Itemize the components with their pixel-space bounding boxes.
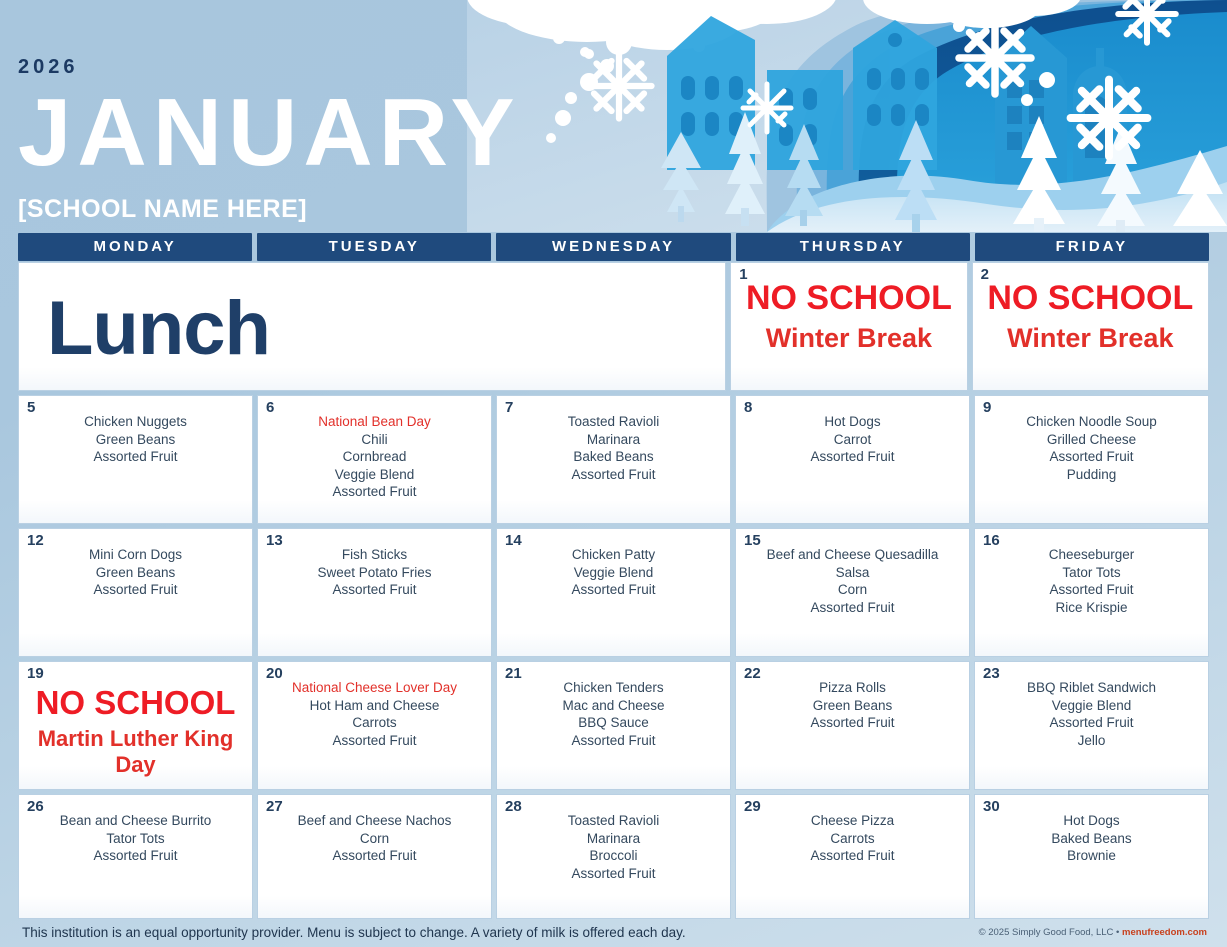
day-number: 23 [983, 665, 1000, 682]
meal-type-label: Lunch [19, 263, 725, 372]
menu-item: Assorted Fruit [505, 466, 722, 484]
menu-item: Beef and Cheese Nachos [266, 812, 483, 830]
menu-item: Rice Krispie [983, 599, 1200, 617]
day-number: 30 [983, 798, 1000, 815]
footer-separator: • [1116, 927, 1119, 938]
menu-item-list: Chicken NuggetsGreen BeansAssorted Fruit [19, 396, 252, 466]
menu-item: Assorted Fruit [266, 732, 483, 750]
weekday-header-wednesday: WEDNESDAY [496, 233, 730, 261]
no-school-title: NO SCHOOL [731, 279, 966, 318]
calendar-day-cell[interactable]: 20National Cheese Lover DayHot Ham and C… [257, 661, 492, 790]
menu-item: Hot Ham and Cheese [266, 697, 483, 715]
day-number: 1 [739, 266, 747, 283]
menu-item-list: Toasted RavioliMarinaraBaked BeansAssort… [497, 396, 730, 483]
menu-item: Chicken Tenders [505, 679, 722, 697]
menu-item: Green Beans [744, 697, 961, 715]
menu-item: BBQ Sauce [505, 714, 722, 732]
menu-item: Fish Sticks [266, 546, 483, 564]
menu-item: Assorted Fruit [744, 847, 961, 865]
calendar-day-cell[interactable]: 22Pizza RollsGreen BeansAssorted Fruit [735, 661, 970, 790]
menu-item: Brownie [983, 847, 1200, 865]
menu-item: Baked Beans [505, 448, 722, 466]
menu-item-list: Pizza RollsGreen BeansAssorted Fruit [736, 662, 969, 732]
menu-item: Assorted Fruit [505, 865, 722, 883]
menu-item: Assorted Fruit [266, 847, 483, 865]
menu-item: Assorted Fruit [983, 581, 1200, 599]
calendar-day-cell[interactable]: 8Hot DogsCarrotAssorted Fruit [735, 395, 970, 524]
footer-disclaimer: This institution is an equal opportunity… [22, 925, 686, 940]
menu-item: Assorted Fruit [744, 599, 961, 617]
menu-item: Jello [983, 732, 1200, 750]
no-school-notice: NO SCHOOLWinter Break [731, 263, 966, 354]
menu-item: Chicken Nuggets [27, 413, 244, 431]
weekday-header-row: MONDAYTUESDAYWEDNESDAYTHURSDAYFRIDAY [18, 233, 1209, 261]
weekday-header-tuesday: TUESDAY [257, 233, 491, 261]
calendar-header: 2026 JANUARY [SCHOOL NAME HERE] [0, 0, 1227, 232]
menu-item: Assorted Fruit [744, 714, 961, 732]
menu-item-list: CheeseburgerTator TotsAssorted FruitRice… [975, 529, 1208, 616]
menu-item: Salsa [744, 564, 961, 582]
calendar-grid: Lunch1NO SCHOOLWinter Break2NO SCHOOLWin… [18, 262, 1209, 919]
menu-item: Corn [744, 581, 961, 599]
no-school-reason: Winter Break [731, 322, 966, 354]
menufreedom-link[interactable]: menufreedom.com [1122, 927, 1207, 938]
menu-item: Hot Dogs [744, 413, 961, 431]
day-number: 22 [744, 665, 761, 682]
menu-item: Cornbread [266, 448, 483, 466]
day-number: 6 [266, 399, 274, 416]
calendar-day-cell[interactable]: 27Beef and Cheese NachosCornAssorted Fru… [257, 794, 492, 919]
weekday-header-friday: FRIDAY [975, 233, 1209, 261]
footer-copyright: © 2025 Simply Good Food, LLC [979, 927, 1114, 938]
calendar-day-cell[interactable]: 6National Bean DayChiliCornbreadVeggie B… [257, 395, 492, 524]
menu-item-list: Hot DogsBaked BeansBrownie [975, 795, 1208, 865]
menu-item-list: Toasted RavioliMarinaraBroccoliAssorted … [497, 795, 730, 882]
menu-item: Sweet Potato Fries [266, 564, 483, 582]
menu-item: Assorted Fruit [983, 448, 1200, 466]
menu-item: Corn [266, 830, 483, 848]
menu-item: Marinara [505, 830, 722, 848]
menu-item: Bean and Cheese Burrito [27, 812, 244, 830]
day-number: 27 [266, 798, 283, 815]
no-school-reason: Winter Break [973, 322, 1208, 354]
menu-item: Assorted Fruit [27, 448, 244, 466]
day-number: 7 [505, 399, 513, 416]
menu-item: Marinara [505, 431, 722, 449]
menu-item: Mac and Cheese [505, 697, 722, 715]
calendar-year: 2026 [18, 56, 521, 79]
calendar-day-cell[interactable]: 30Hot DogsBaked BeansBrownie [974, 794, 1209, 919]
calendar-week-row: 26Bean and Cheese BurritoTator TotsAssor… [18, 794, 1209, 919]
menu-item: Assorted Fruit [266, 581, 483, 599]
menu-item: Broccoli [505, 847, 722, 865]
calendar-week-row: 5Chicken NuggetsGreen BeansAssorted Frui… [18, 395, 1209, 524]
no-school-title: NO SCHOOL [973, 279, 1208, 318]
meal-type-label-cell[interactable]: Lunch [18, 262, 726, 391]
day-number: 14 [505, 532, 522, 549]
menu-item: Hot Dogs [983, 812, 1200, 830]
calendar-day-cell[interactable]: 16CheeseburgerTator TotsAssorted FruitRi… [974, 528, 1209, 657]
day-number: 28 [505, 798, 522, 815]
day-number: 8 [744, 399, 752, 416]
calendar-day-cell[interactable]: 1NO SCHOOLWinter Break [730, 262, 967, 391]
calendar-day-cell[interactable]: 9Chicken Noodle SoupGrilled CheeseAssort… [974, 395, 1209, 524]
calendar-day-cell[interactable]: 14Chicken PattyVeggie BlendAssorted Frui… [496, 528, 731, 657]
menu-item: Beef and Cheese Quesadilla [744, 546, 961, 564]
menu-item: Cheeseburger [983, 546, 1200, 564]
calendar-day-cell[interactable]: 2NO SCHOOLWinter Break [972, 262, 1209, 391]
menu-item-list: Beef and Cheese NachosCornAssorted Fruit [258, 795, 491, 865]
calendar-day-cell[interactable]: 12Mini Corn DogsGreen BeansAssorted Frui… [18, 528, 253, 657]
menu-item-list: Chicken PattyVeggie BlendAssorted Fruit [497, 529, 730, 599]
menu-item-list: BBQ Riblet SandwichVeggie BlendAssorted … [975, 662, 1208, 749]
menu-item: Veggie Blend [983, 697, 1200, 715]
menu-item-list: Cheese PizzaCarrotsAssorted Fruit [736, 795, 969, 865]
menu-item: Veggie Blend [505, 564, 722, 582]
weekday-header-monday: MONDAY [18, 233, 252, 261]
calendar-day-cell[interactable]: 13Fish SticksSweet Potato FriesAssorted … [257, 528, 492, 657]
menu-item: Pizza Rolls [744, 679, 961, 697]
day-number: 26 [27, 798, 44, 815]
menu-item-list: Hot DogsCarrotAssorted Fruit [736, 396, 969, 466]
menu-item: Assorted Fruit [983, 714, 1200, 732]
day-number: 20 [266, 665, 283, 682]
menu-item: Chicken Patty [505, 546, 722, 564]
menu-item: Assorted Fruit [27, 847, 244, 865]
no-school-reason: Martin Luther King Day [19, 726, 252, 779]
food-holiday-note: National Cheese Lover Day [266, 679, 483, 697]
calendar-day-cell[interactable]: 7Toasted RavioliMarinaraBaked BeansAssor… [496, 395, 731, 524]
calendar-day-cell[interactable]: 19NO SCHOOLMartin Luther King Day [18, 661, 253, 790]
day-number: 15 [744, 532, 761, 549]
calendar-week-row: 19NO SCHOOLMartin Luther King Day20Natio… [18, 661, 1209, 790]
menu-item: Assorted Fruit [744, 448, 961, 466]
day-number: 9 [983, 399, 991, 416]
menu-item: BBQ Riblet Sandwich [983, 679, 1200, 697]
food-holiday-note: National Bean Day [266, 413, 483, 431]
menu-item: Toasted Ravioli [505, 812, 722, 830]
calendar-day-cell[interactable]: 28Toasted RavioliMarinaraBroccoliAssorte… [496, 794, 731, 919]
day-number: 12 [27, 532, 44, 549]
menu-item-list: Chicken Noodle SoupGrilled CheeseAssorte… [975, 396, 1208, 483]
day-number: 2 [981, 266, 989, 283]
no-school-title: NO SCHOOL [19, 684, 252, 722]
calendar-month: JANUARY [18, 85, 521, 181]
weekday-header-thursday: THURSDAY [736, 233, 970, 261]
calendar-week-row: 12Mini Corn DogsGreen BeansAssorted Frui… [18, 528, 1209, 657]
menu-item-list: Mini Corn DogsGreen BeansAssorted Fruit [19, 529, 252, 599]
calendar-day-cell[interactable]: 5Chicken NuggetsGreen BeansAssorted Frui… [18, 395, 253, 524]
day-number: 13 [266, 532, 283, 549]
menu-item: Veggie Blend [266, 466, 483, 484]
day-number: 29 [744, 798, 761, 815]
menu-item: Grilled Cheese [983, 431, 1200, 449]
menu-item-list: National Bean DayChiliCornbreadVeggie Bl… [258, 396, 491, 501]
footer-credits: © 2025 Simply Good Food, LLC • menufreed… [979, 927, 1207, 938]
menu-item: Carrot [744, 431, 961, 449]
calendar-day-cell[interactable]: 21Chicken TendersMac and CheeseBBQ Sauce… [496, 661, 731, 790]
calendar-day-cell[interactable]: 26Bean and Cheese BurritoTator TotsAssor… [18, 794, 253, 919]
menu-item: Assorted Fruit [505, 732, 722, 750]
menu-item: Assorted Fruit [266, 483, 483, 501]
menu-item: Chili [266, 431, 483, 449]
menu-item-list: Fish SticksSweet Potato FriesAssorted Fr… [258, 529, 491, 599]
winter-papercut-scene-art [467, 0, 1227, 232]
calendar-week-row: Lunch1NO SCHOOLWinter Break2NO SCHOOLWin… [18, 262, 1209, 391]
menu-item: Carrots [744, 830, 961, 848]
menu-item: Toasted Ravioli [505, 413, 722, 431]
day-number: 19 [27, 665, 44, 682]
header-title-block: 2026 JANUARY [SCHOOL NAME HERE] [18, 0, 521, 224]
no-school-notice: NO SCHOOLWinter Break [973, 263, 1208, 354]
day-number: 16 [983, 532, 1000, 549]
school-name: [SCHOOL NAME HERE] [18, 195, 521, 224]
calendar-day-cell[interactable]: 15Beef and Cheese QuesadillaSalsaCornAss… [735, 528, 970, 657]
menu-item: Tator Tots [27, 830, 244, 848]
calendar-footer: This institution is an equal opportunity… [0, 917, 1227, 947]
menu-item: Assorted Fruit [27, 581, 244, 599]
calendar-day-cell[interactable]: 23BBQ Riblet SandwichVeggie BlendAssorte… [974, 661, 1209, 790]
menu-item-list: Beef and Cheese QuesadillaSalsaCornAssor… [736, 529, 969, 616]
menu-item: Tator Tots [983, 564, 1200, 582]
day-number: 5 [27, 399, 35, 416]
menu-item: Baked Beans [983, 830, 1200, 848]
menu-item: Assorted Fruit [505, 581, 722, 599]
menu-item: Cheese Pizza [744, 812, 961, 830]
menu-item: Chicken Noodle Soup [983, 413, 1200, 431]
menu-item: Green Beans [27, 431, 244, 449]
menu-item-list: Bean and Cheese BurritoTator TotsAssorte… [19, 795, 252, 865]
calendar-day-cell[interactable]: 29Cheese PizzaCarrotsAssorted Fruit [735, 794, 970, 919]
menu-item: Mini Corn Dogs [27, 546, 244, 564]
menu-item: Carrots [266, 714, 483, 732]
day-number: 21 [505, 665, 522, 682]
menu-item: Green Beans [27, 564, 244, 582]
no-school-notice: NO SCHOOLMartin Luther King Day [19, 662, 252, 779]
menu-item: Pudding [983, 466, 1200, 484]
menu-item-list: National Cheese Lover DayHot Ham and Che… [258, 662, 491, 749]
menu-item-list: Chicken TendersMac and CheeseBBQ SauceAs… [497, 662, 730, 749]
